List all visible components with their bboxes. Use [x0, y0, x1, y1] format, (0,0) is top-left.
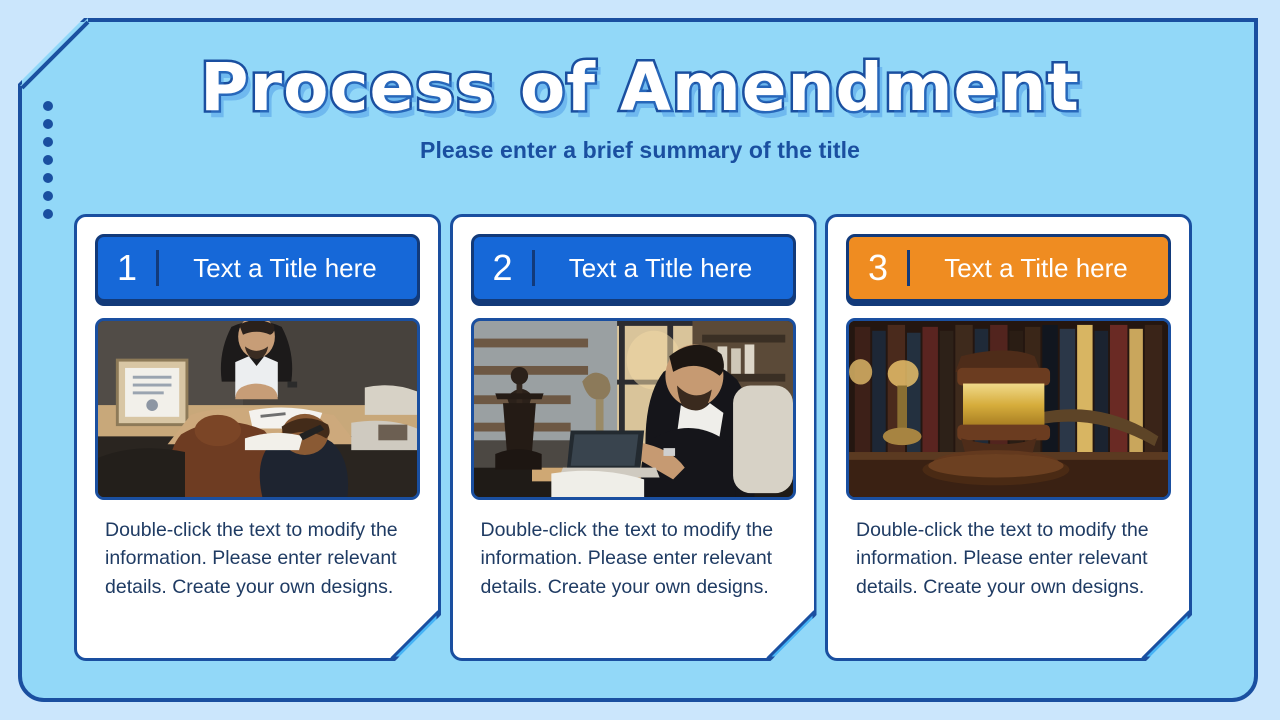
- card-row: 1 Text a Title here: [74, 214, 1192, 661]
- content-card[interactable]: 1 Text a Title here: [74, 214, 441, 661]
- slide-subtitle: Please enter a brief summary of the titl…: [0, 137, 1280, 164]
- card-number: 2: [474, 250, 532, 286]
- card-body-text: Double-click the text to modify the info…: [481, 516, 792, 601]
- decor-dot: [43, 173, 53, 183]
- slide-canvas: Process of Amendment Please enter a brie…: [0, 0, 1280, 720]
- title-block: Process of Amendment Please enter a brie…: [0, 52, 1280, 164]
- card-folded-corner-icon: [765, 609, 817, 661]
- card-title: Text a Title here: [159, 253, 417, 284]
- content-card[interactable]: 3 Text a Title here: [825, 214, 1192, 661]
- card-number: 3: [849, 250, 907, 286]
- card-folded-corner-icon: [389, 609, 441, 661]
- card-header: 3 Text a Title here: [846, 234, 1171, 302]
- decor-dot: [43, 209, 53, 219]
- card-image-lawyer-at-desk: [471, 318, 796, 500]
- slide-title: Process of Amendment: [0, 52, 1280, 123]
- content-card[interactable]: 2 Text a Title here: [450, 214, 817, 661]
- card-number: 1: [98, 250, 156, 286]
- card-folded-corner-icon: [1140, 609, 1192, 661]
- decor-dot: [43, 191, 53, 201]
- card-body-text: Double-click the text to modify the info…: [105, 516, 416, 601]
- card-header: 2 Text a Title here: [471, 234, 796, 302]
- card-image-lawyer-client-consultation: [95, 318, 420, 500]
- card-header: 1 Text a Title here: [95, 234, 420, 302]
- card-image-gavel-with-law-books: [846, 318, 1171, 500]
- card-body-text: Double-click the text to modify the info…: [856, 516, 1167, 601]
- card-title: Text a Title here: [910, 253, 1168, 284]
- card-title: Text a Title here: [535, 253, 793, 284]
